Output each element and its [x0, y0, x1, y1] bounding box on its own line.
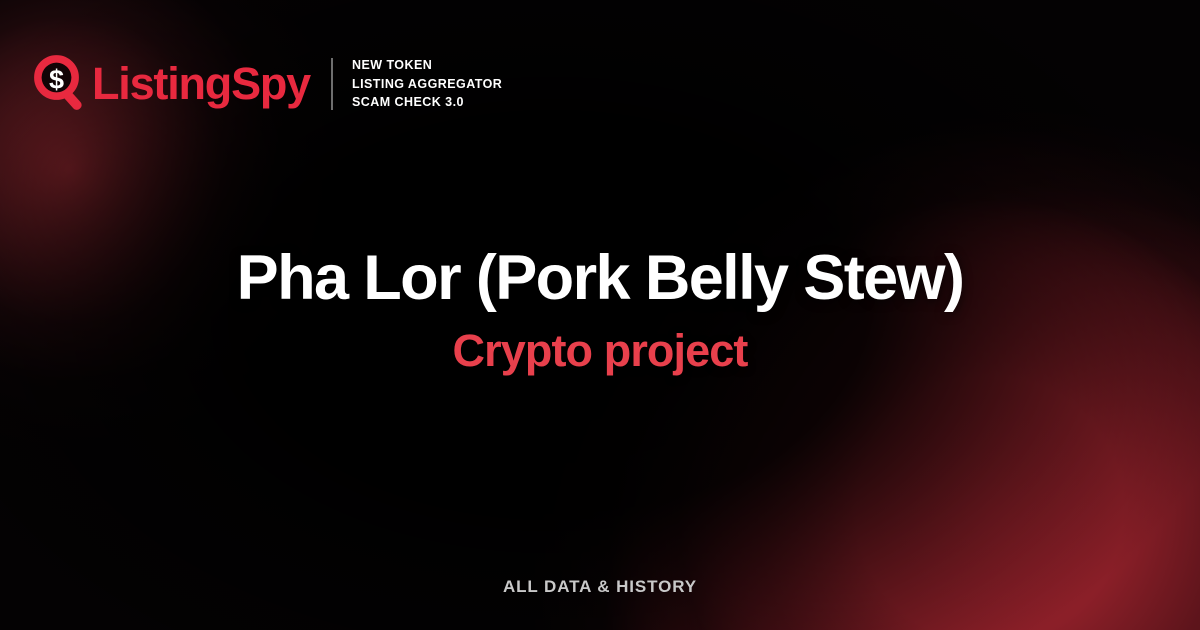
page-title: Pha Lor (Pork Belly Stew) — [42, 244, 1158, 312]
brand-wordmark: ListingSpy — [92, 61, 310, 106]
brand-lockup[interactable]: $ ListingSpy NEW TOKEN LISTING AGGREGATO… — [34, 55, 502, 113]
svg-text:$: $ — [49, 64, 64, 94]
footer-label: ALL DATA & HISTORY — [503, 577, 697, 596]
tagline-line-3: SCAM CHECK 3.0 — [352, 94, 502, 111]
og-card: $ ListingSpy NEW TOKEN LISTING AGGREGATO… — [0, 0, 1200, 630]
brand-divider — [331, 58, 333, 110]
hero-block: Pha Lor (Pork Belly Stew) Crypto project — [0, 244, 1200, 376]
tagline-line-2: LISTING AGGREGATOR — [352, 76, 502, 93]
background-glow-bottom-right — [610, 130, 1200, 630]
magnifier-dollar-icon: $ — [34, 55, 90, 113]
page-subtitle: Crypto project — [42, 326, 1158, 376]
brand-tagline: NEW TOKEN LISTING AGGREGATOR SCAM CHECK … — [352, 57, 502, 111]
footer: ALL DATA & HISTORY — [0, 577, 1200, 597]
tagline-line-1: NEW TOKEN — [352, 57, 502, 74]
